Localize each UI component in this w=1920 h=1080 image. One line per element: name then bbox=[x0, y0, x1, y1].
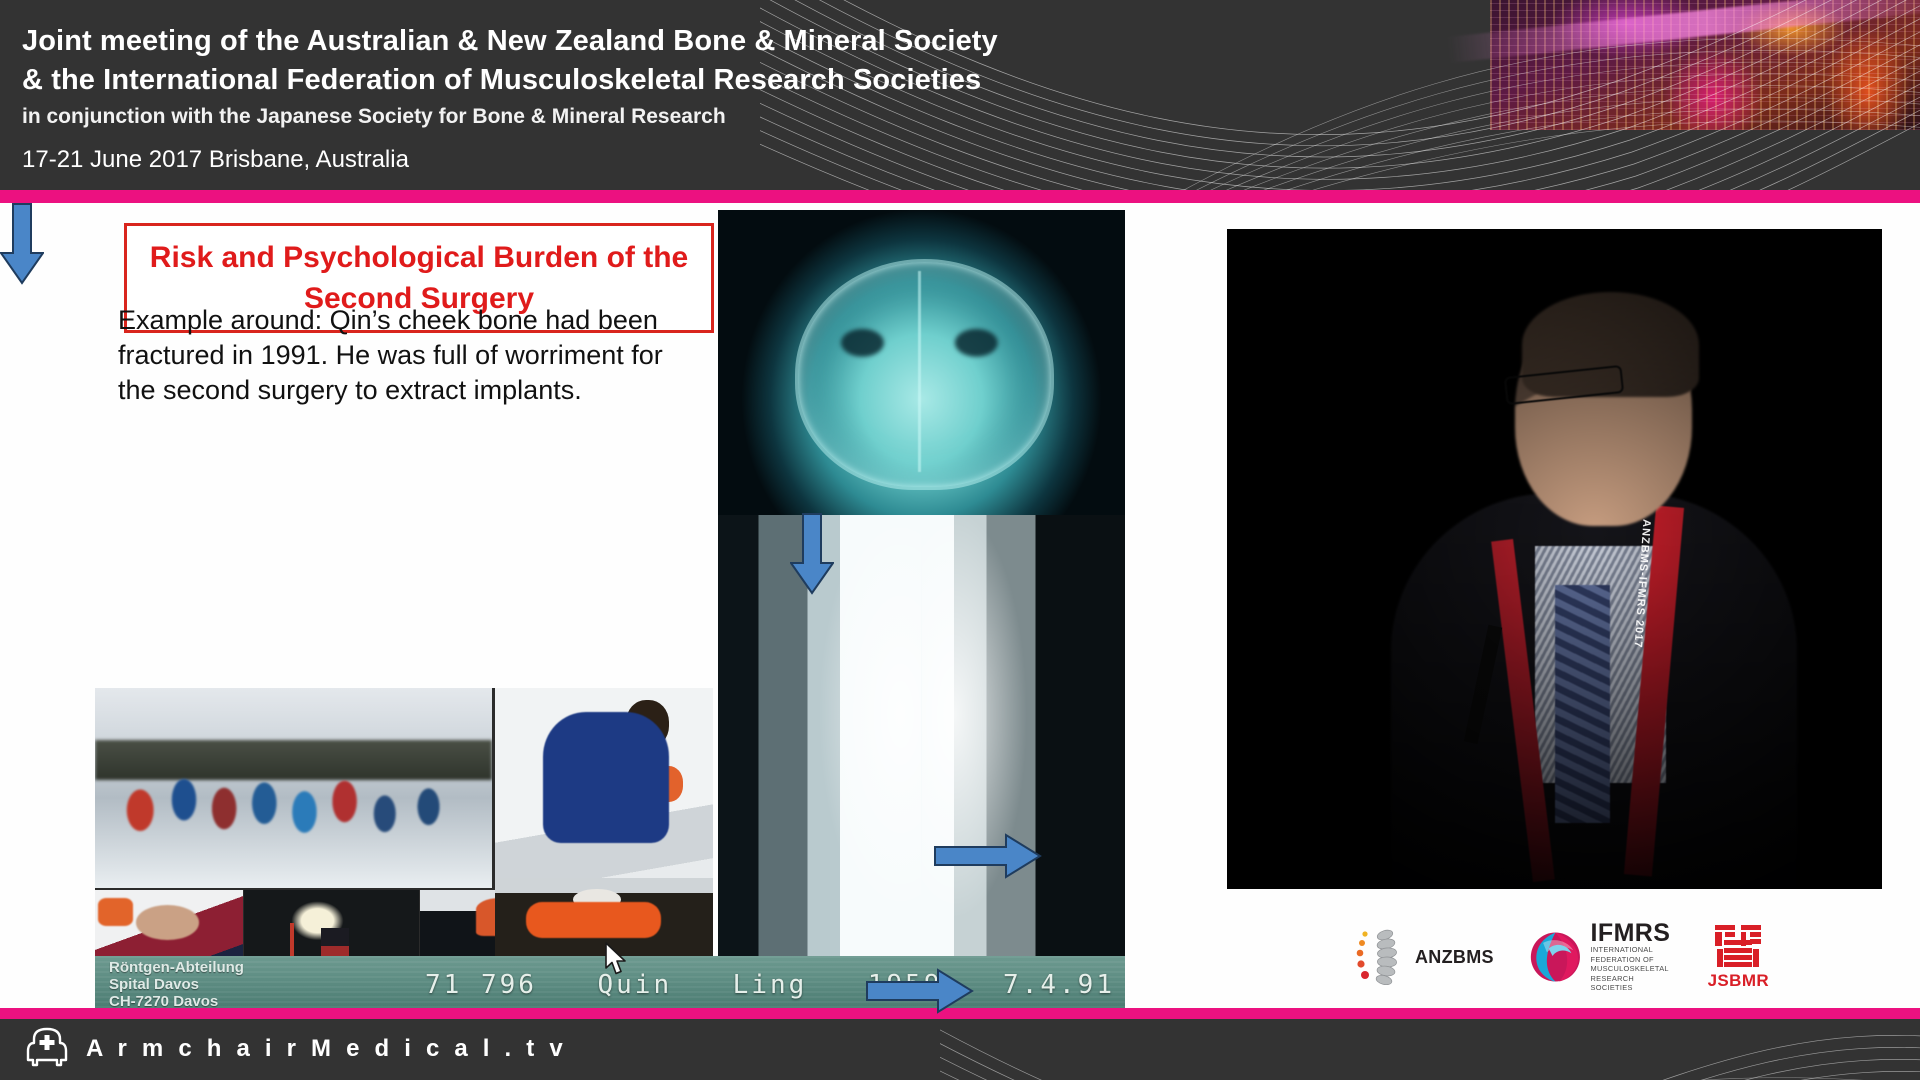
logo-ifmrs-sub-4: RESEARCH SOCIETIES bbox=[1591, 974, 1674, 993]
xray-hospital: Spital Davos bbox=[109, 976, 244, 993]
logo-ifmrs: IFMRS INTERNATIONAL FEDERATION OF MUSCUL… bbox=[1528, 921, 1674, 992]
footer-brand-label: A r m c h a i r M e d i c a l . t v bbox=[86, 1035, 567, 1063]
logo-anzbms-label: ANZBMS bbox=[1415, 947, 1494, 968]
header-dates-location: 17-21 June 2017 Brisbane, Australia bbox=[22, 145, 998, 175]
logo-ifmrs-sub-3: MUSCULOSKELETAL bbox=[1591, 964, 1674, 973]
globe-swirl-icon bbox=[1528, 928, 1583, 986]
top-accent-divider bbox=[0, 190, 1920, 203]
header-line-3: in conjunction with the Japanese Society… bbox=[22, 100, 998, 134]
armchair-medical-cross-icon bbox=[26, 1027, 68, 1071]
jsbmr-mark-icon bbox=[1713, 923, 1763, 969]
header-line-1: Joint meeting of the Australian & New Ze… bbox=[22, 22, 998, 61]
mouse-cursor bbox=[604, 942, 630, 981]
footer-brand[interactable]: A r m c h a i r M e d i c a l . t v bbox=[26, 1027, 567, 1071]
speaker-video-panel[interactable]: ANZBMS-IFMRS 2017 bbox=[1227, 229, 1882, 889]
xray-mandible-lateral bbox=[718, 515, 1125, 958]
site-footer: A r m c h a i r M e d i c a l . t v bbox=[0, 1019, 1920, 1080]
annotation-arrow-down-right bbox=[0, 203, 44, 285]
xray-sinus-shadow bbox=[816, 308, 1028, 387]
logo-jsbmr-label: JSBMR bbox=[1708, 971, 1770, 991]
footer-wave-graphic bbox=[940, 1019, 1920, 1080]
sponsor-logo-row: ANZBMS IFMRS INTERNATIONAL FEDERATION OF… bbox=[1355, 921, 1765, 993]
header-text-block: Joint meeting of the Australian & New Ze… bbox=[22, 22, 998, 175]
xray-record-number: 71 796 bbox=[425, 970, 537, 1000]
screen: Joint meeting of the Australian & New Ze… bbox=[0, 0, 1920, 1080]
header-line-2: & the International Federation of Muscul… bbox=[22, 61, 998, 100]
logo-jsbmr: JSBMR bbox=[1708, 923, 1770, 991]
spine-icon bbox=[1355, 928, 1407, 986]
xray-skull-frontal bbox=[718, 210, 1125, 515]
logo-anzbms: ANZBMS bbox=[1355, 928, 1494, 986]
xray-given-name: Ling bbox=[733, 970, 808, 1000]
logo-ifmrs-sub-2: FEDERATION OF bbox=[1591, 955, 1674, 964]
arrow-pointer-icon bbox=[604, 942, 630, 976]
logo-ifmrs-label: IFMRS bbox=[1591, 921, 1674, 945]
xray-facility-block: Röntgen-Abteilung Spital Davos CH-7270 D… bbox=[109, 959, 244, 1008]
annotation-arrow-down-left bbox=[790, 513, 834, 595]
annotation-arrow-right-upper bbox=[934, 833, 1042, 879]
slide-body-text: Example around: Qin’s cheek bone had bee… bbox=[118, 303, 698, 408]
annotation-arrow-right-lower bbox=[866, 968, 974, 1014]
logo-ifmrs-textblock: IFMRS INTERNATIONAL FEDERATION OF MUSCUL… bbox=[1591, 921, 1674, 992]
xray-patient-row: 71 796 Quin Ling 1959 7.4.91 bbox=[425, 970, 1115, 1000]
video-vignette bbox=[1227, 229, 1882, 889]
conference-header-banner: Joint meeting of the Australian & New Ze… bbox=[0, 0, 1920, 190]
photo-ski-team-group bbox=[95, 688, 492, 888]
xray-address: CH-7270 Davos bbox=[109, 993, 244, 1008]
xray-image-panel bbox=[718, 210, 1125, 958]
presentation-slide-area: Risk and Psychological Burden of the Sec… bbox=[0, 203, 1920, 1008]
xray-exam-date: 7.4.91 bbox=[1003, 970, 1115, 1000]
xray-department: Röntgen-Abteilung bbox=[109, 959, 244, 976]
